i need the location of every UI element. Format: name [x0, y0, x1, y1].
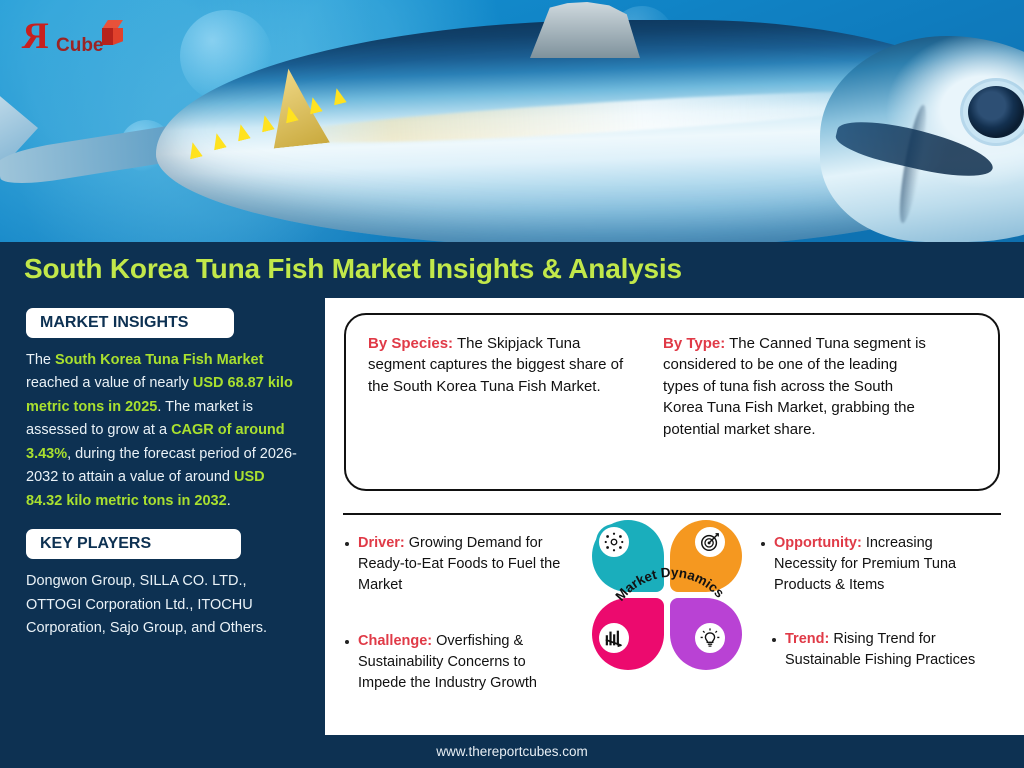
bullet-label-trend: Trend: [785, 631, 829, 647]
fish-eye [968, 86, 1024, 138]
footer-website[interactable]: www.thereportcubes.com [436, 745, 588, 759]
bullet-label-opportunity: Opportunity: [774, 535, 862, 551]
bullet-label-challenge: Challenge: [358, 633, 432, 649]
key-players-pill: KEY PLAYERS [26, 529, 241, 559]
bullet-trend: Trend: Rising Trend for Sustainable Fish… [772, 629, 1004, 671]
sidebar: MARKET INSIGHTS The South Korea Tuna Fis… [0, 298, 325, 735]
bullet-opportunity: Opportunity: Increasing Necessity for Pr… [761, 533, 993, 596]
target-dartboard-icon [692, 524, 728, 560]
market-insights-paragraph: The South Korea Tuna Fish Market reached… [26, 349, 301, 513]
logo-letter-r: R [22, 18, 49, 55]
bullet-dot-icon [761, 542, 765, 546]
insights-market-name: South Korea Tuna Fish Market [55, 352, 263, 368]
insights-text-5: . [227, 493, 231, 509]
lightbulb-icon [692, 620, 728, 656]
insights-text-2: reached a value of nearly [26, 375, 193, 391]
main-panel: By Species: The Skipjack Tuna segment ca… [325, 298, 1024, 735]
segment-by-type: By Type: The Canned Tuna segment is cons… [663, 333, 928, 479]
market-insights-pill: MARKET INSIGHTS [26, 308, 234, 338]
segment-label-species: By Species: [368, 335, 453, 352]
brand-logo[interactable]: R Cube [22, 18, 132, 62]
red-cube-icon [100, 20, 127, 47]
footer-bar: www.thereportcubes.com [0, 735, 1024, 768]
market-dynamics-graphic: Market Dynamics [586, 508, 754, 698]
network-nodes-icon [596, 524, 632, 560]
tuna-fish-illustration [60, 14, 1024, 242]
declining-chart-arrow-icon [596, 620, 632, 656]
insights-text-1: The [26, 352, 55, 368]
page-title: South Korea Tuna Fish Market Insights & … [24, 249, 682, 288]
segmentation-box: By Species: The Skipjack Tuna segment ca… [344, 313, 1000, 491]
bullet-dot-icon [345, 640, 349, 644]
title-band: South Korea Tuna Fish Market Insights & … [0, 242, 1024, 298]
segment-label-type: By Type: [663, 335, 725, 352]
bullet-dot-icon [345, 542, 349, 546]
bullet-label-driver: Driver: [358, 535, 405, 551]
bullet-dot-icon [772, 638, 776, 642]
hero-image [0, 0, 1024, 242]
key-players-text: Dongwon Group, SILLA CO. LTD., OTTOGI Co… [26, 570, 301, 640]
logo-wordmark: Cube [56, 36, 104, 55]
bullet-driver: Driver: Growing Demand for Ready-to-Eat … [345, 533, 577, 596]
segment-by-species: By Species: The Skipjack Tuna segment ca… [368, 333, 633, 479]
bullet-challenge: Challenge: Overfishing & Sustainability … [345, 631, 577, 694]
